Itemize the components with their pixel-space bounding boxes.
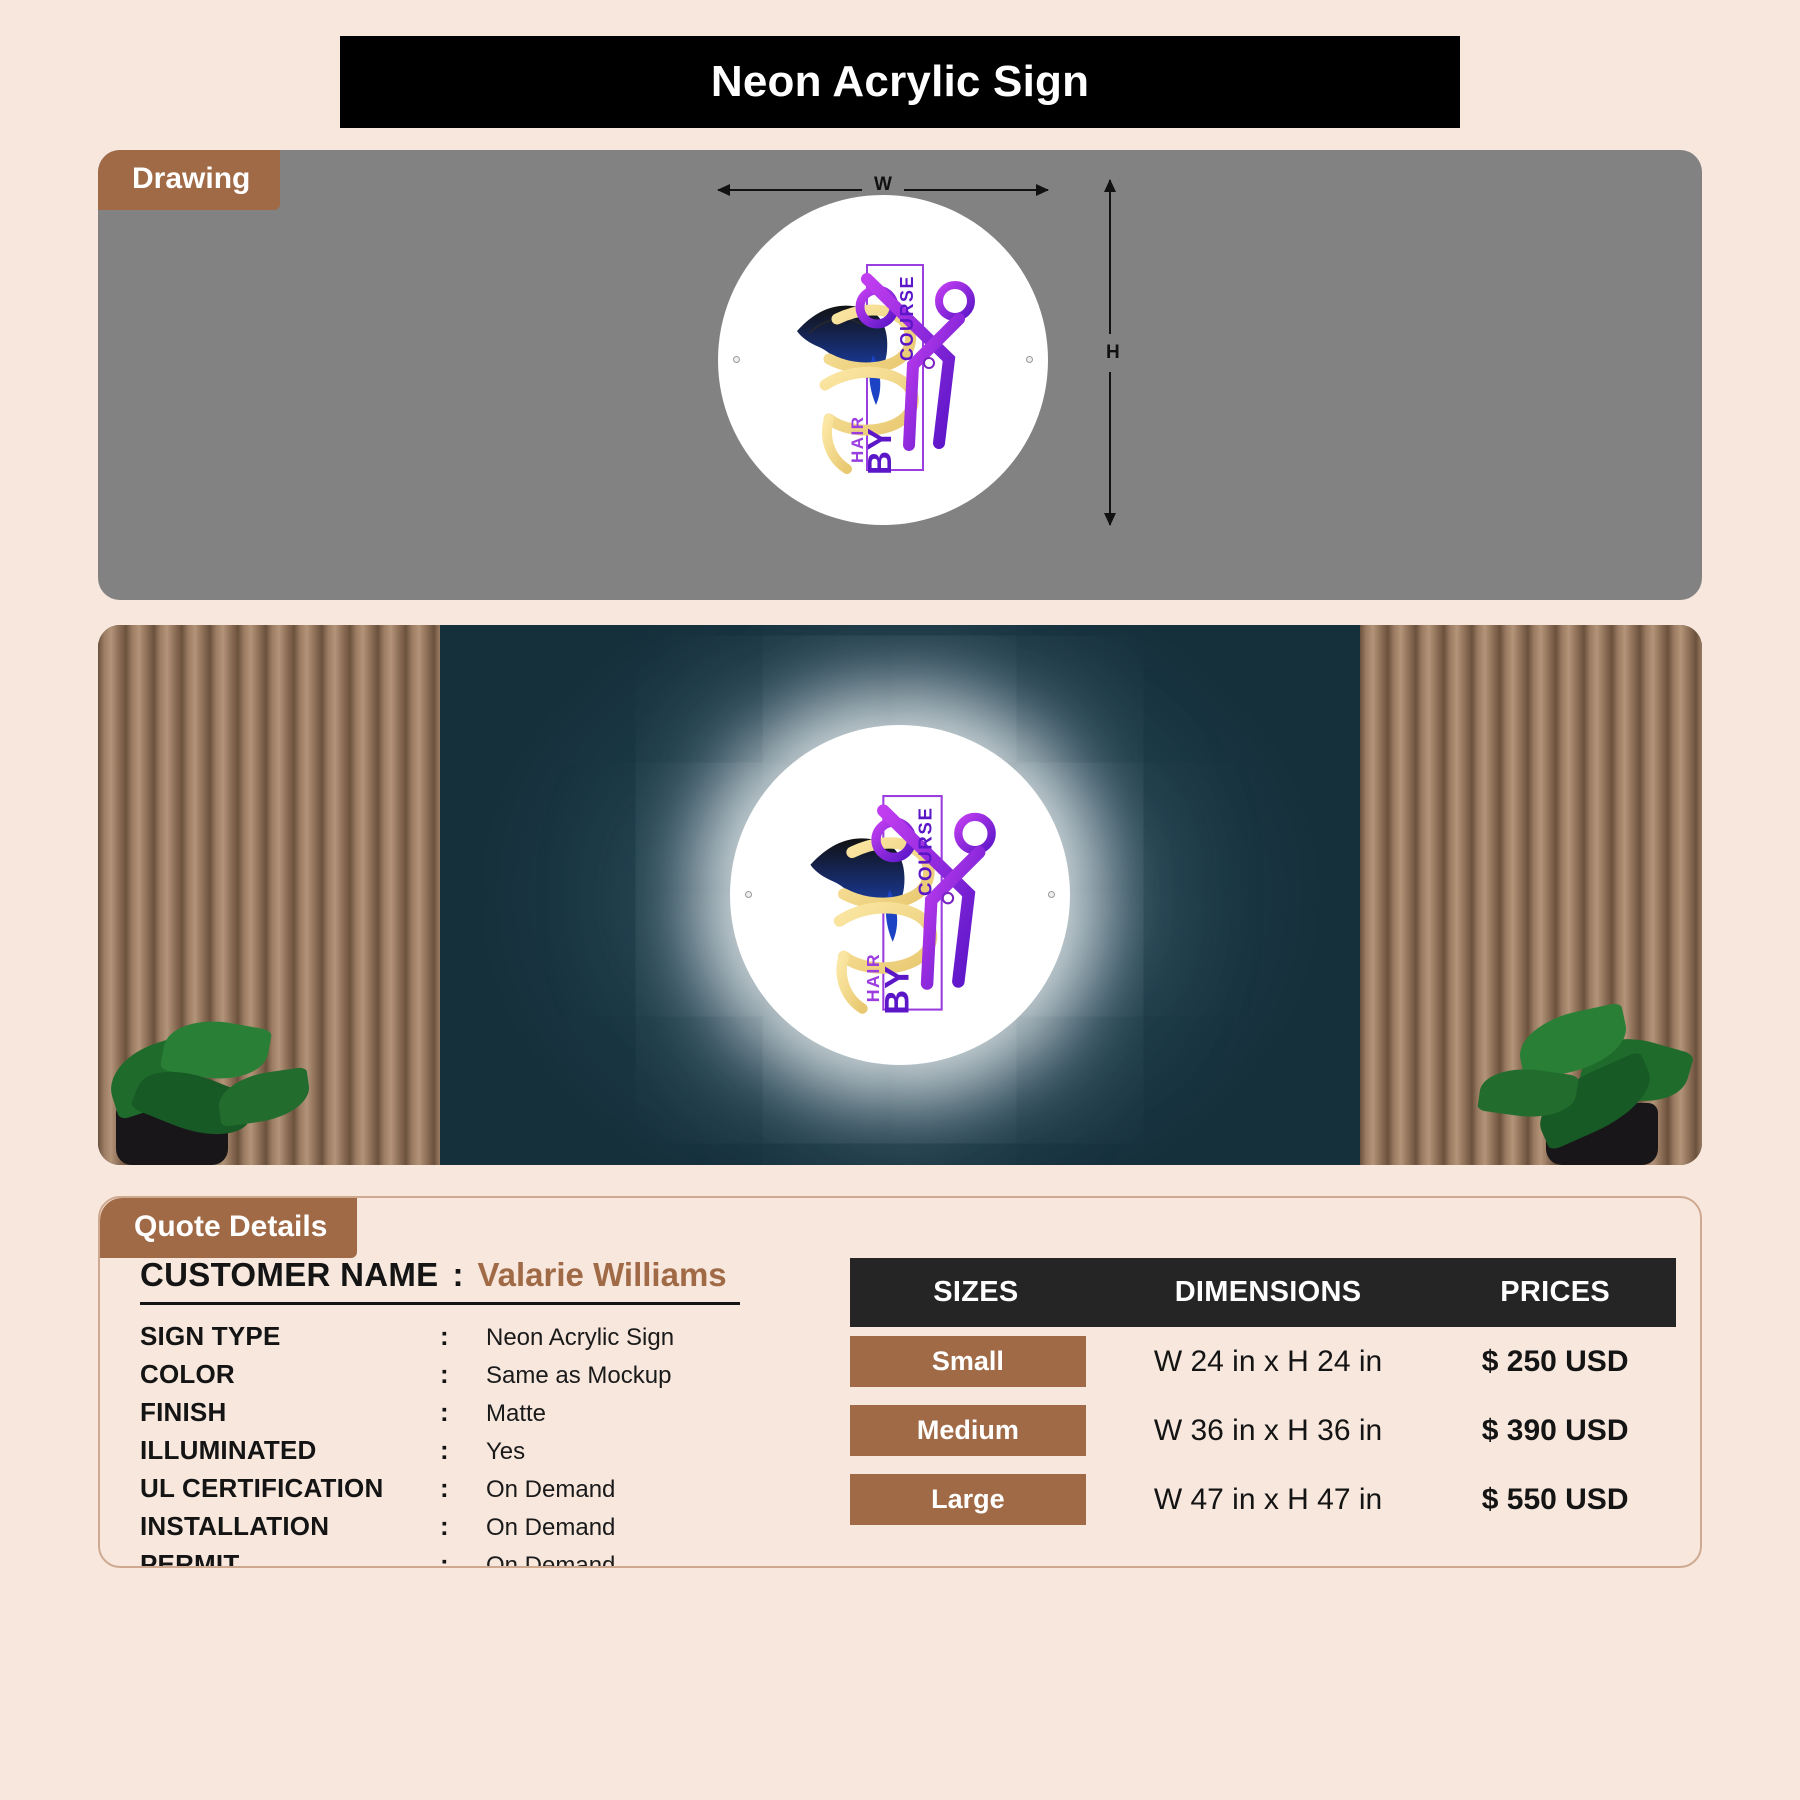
height-dimension: H (1100, 180, 1120, 525)
spec-colon: : (440, 1475, 486, 1501)
mounting-screw-right-icon (1048, 891, 1055, 898)
height-arrow-bottom-icon (1104, 513, 1116, 526)
column-header-sizes: SIZES (850, 1258, 1102, 1327)
title-bar: Neon Acrylic Sign (340, 36, 1460, 128)
spec-row: UL CERTIFICATION : On Demand (140, 1475, 824, 1502)
spec-label: PERMIT (140, 1551, 440, 1568)
spec-label: ILLUMINATED (140, 1437, 440, 1463)
size-cell: Small (850, 1327, 1102, 1396)
salon-logo-artwork: HAIR BY COURSE (763, 235, 1003, 485)
spec-value: On Demand (486, 1554, 615, 1568)
specification-list: CUSTOMER NAME : Valarie Williams SIGN TY… (124, 1256, 824, 1566)
mounting-screw-left-icon (745, 891, 752, 898)
plant-left (108, 975, 338, 1165)
svg-text:BY: BY (861, 427, 898, 475)
customer-name-colon: : (452, 1256, 463, 1294)
price-cell: $ 550 USD (1434, 1465, 1676, 1534)
spec-row: PERMIT : On Demand (140, 1551, 824, 1568)
dimensions-cell: W 36 in x H 36 in (1102, 1396, 1434, 1465)
svg-text:COURSE: COURSE (914, 806, 935, 896)
pricing-table-wrapper: SIZES DIMENSIONS PRICES Small W 24 in x … (824, 1256, 1676, 1566)
quote-details-panel: Quote Details CUSTOMER NAME : Valarie Wi… (98, 1196, 1702, 1568)
sign-circle-drawing: HAIR BY COURSE (718, 195, 1048, 525)
spec-value: Yes (486, 1440, 525, 1464)
size-badge: Medium (850, 1405, 1086, 1456)
height-label: H (1104, 334, 1122, 372)
spec-value: On Demand (486, 1516, 615, 1540)
spec-row: INSTALLATION : On Demand (140, 1513, 824, 1540)
spec-colon: : (440, 1361, 486, 1387)
salon-logo-artwork: HAIR BY COURSE (775, 764, 1025, 1026)
customer-name-row: CUSTOMER NAME : Valarie Williams (140, 1256, 824, 1302)
page-title: Neon Acrylic Sign (711, 57, 1089, 107)
spec-label: INSTALLATION (140, 1513, 440, 1539)
drawing-panel: Drawing W H (98, 150, 1702, 600)
price-cell: $ 390 USD (1434, 1396, 1676, 1465)
size-cell: Medium (850, 1396, 1102, 1465)
dimensions-cell: W 24 in x H 24 in (1102, 1327, 1434, 1396)
size-badge: Large (850, 1474, 1086, 1525)
column-header-prices: PRICES (1434, 1258, 1676, 1327)
drawing-tag: Drawing (98, 150, 280, 210)
mounting-screw-left-icon (733, 356, 740, 363)
height-arrow-top-icon (1104, 179, 1116, 192)
spec-row: FINISH : Matte (140, 1399, 824, 1426)
mounting-screw-right-icon (1026, 356, 1033, 363)
spec-label: UL CERTIFICATION (140, 1475, 440, 1501)
spec-row: ILLUMINATED : Yes (140, 1437, 824, 1464)
mockup-panel: HAIR BY COURSE (98, 625, 1702, 1165)
width-label: W (862, 174, 904, 196)
quote-sheet: Neon Acrylic Sign Drawing W H (0, 0, 1800, 1800)
width-arrow-left-icon (717, 184, 730, 196)
table-row: Large W 47 in x H 47 in $ 550 USD (850, 1465, 1676, 1534)
spec-value: Same as Mockup (486, 1364, 671, 1388)
spec-row: SIGN TYPE : Neon Acrylic Sign (140, 1323, 824, 1350)
spec-value: On Demand (486, 1478, 615, 1502)
price-cell: $ 250 USD (1434, 1327, 1676, 1396)
drawing-stage: W H (98, 150, 1702, 600)
spec-label: SIGN TYPE (140, 1323, 440, 1349)
plant-right (1442, 965, 1692, 1165)
spec-label: COLOR (140, 1361, 440, 1387)
spec-colon: : (440, 1323, 486, 1349)
quote-details-tag: Quote Details (100, 1198, 357, 1258)
dimensions-cell: W 47 in x H 47 in (1102, 1465, 1434, 1534)
table-row: Medium W 36 in x H 36 in $ 390 USD (850, 1396, 1676, 1465)
spec-value: Neon Acrylic Sign (486, 1326, 674, 1350)
spec-colon: : (440, 1437, 486, 1463)
svg-text:BY: BY (878, 965, 916, 1015)
svg-text:COURSE: COURSE (897, 275, 917, 361)
spec-colon: : (440, 1399, 486, 1425)
sign-circle-mockup: HAIR BY COURSE (730, 725, 1070, 1065)
spec-label: FINISH (140, 1399, 440, 1425)
spec-colon: : (440, 1551, 486, 1568)
customer-name-label: CUSTOMER NAME (140, 1256, 438, 1294)
spec-value: Matte (486, 1402, 546, 1426)
table-row: Small W 24 in x H 24 in $ 250 USD (850, 1327, 1676, 1396)
pricing-table: SIZES DIMENSIONS PRICES Small W 24 in x … (850, 1258, 1676, 1534)
size-badge: Small (850, 1336, 1086, 1387)
customer-name-divider (140, 1302, 740, 1305)
column-header-dimensions: DIMENSIONS (1102, 1258, 1434, 1327)
width-arrow-right-icon (1036, 184, 1049, 196)
size-cell: Large (850, 1465, 1102, 1534)
spec-row: COLOR : Same as Mockup (140, 1361, 824, 1388)
pricing-table-header-row: SIZES DIMENSIONS PRICES (850, 1258, 1676, 1327)
spec-colon: : (440, 1513, 486, 1539)
customer-name-value: Valarie Williams (477, 1256, 726, 1294)
